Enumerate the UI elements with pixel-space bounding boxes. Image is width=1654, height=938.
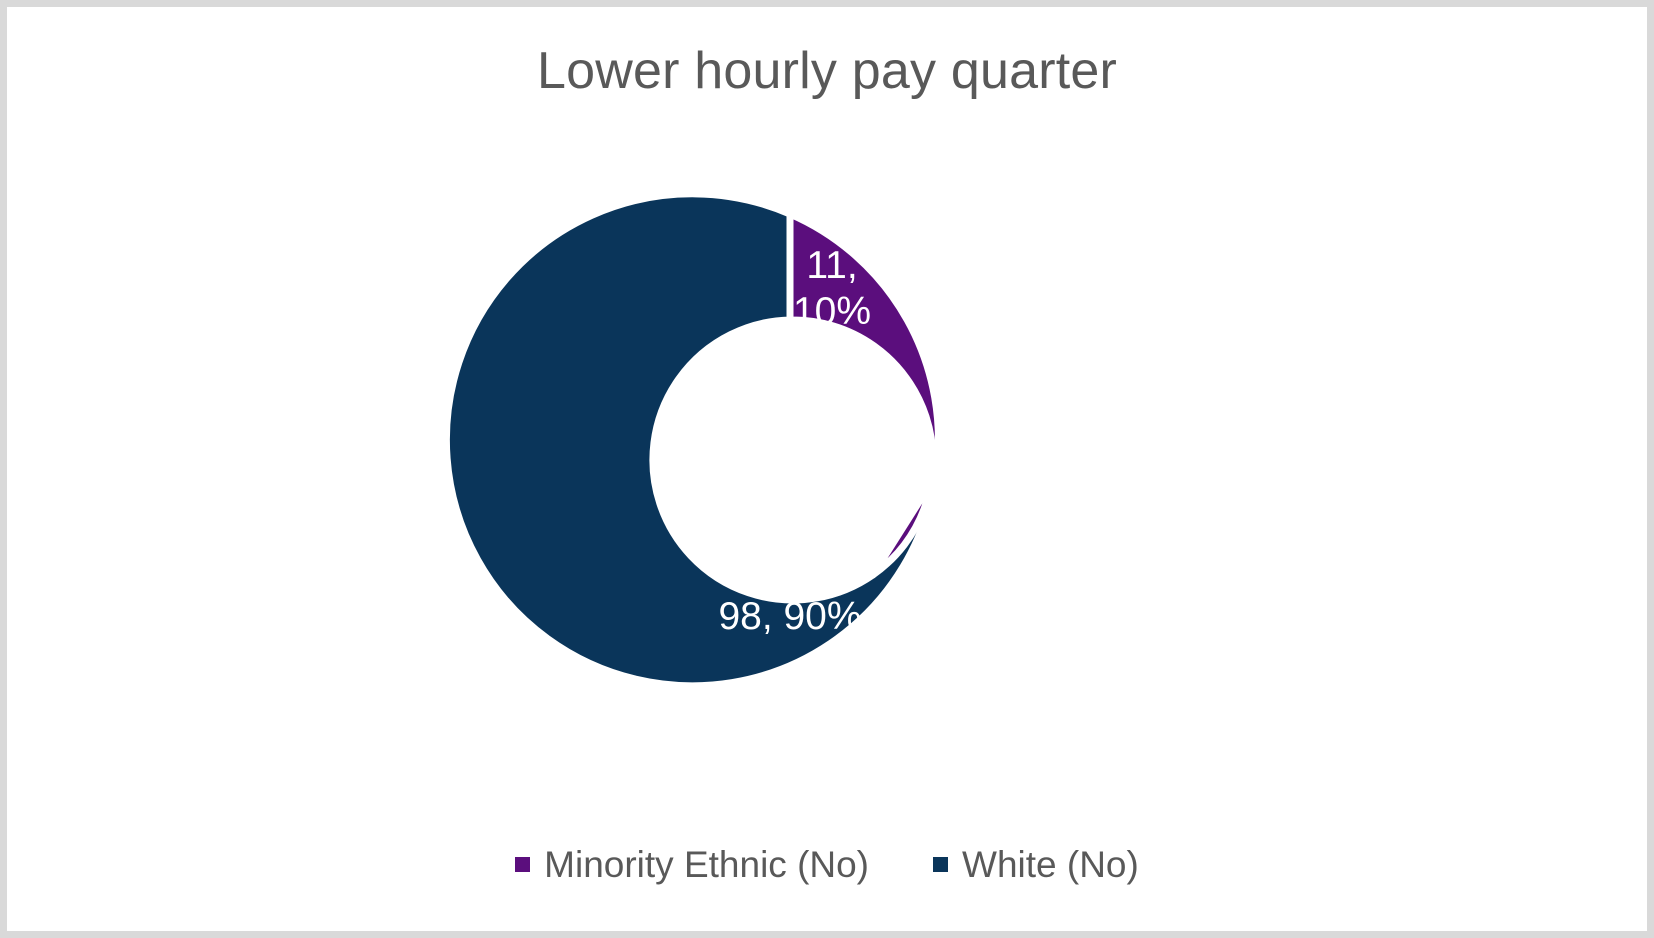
plot-area: 11, 10% 98, 90% [7, 157, 1654, 777]
chart-legend: Minority Ethnic (No) White (No) [7, 846, 1647, 883]
legend-item-minority-ethnic[interactable]: Minority Ethnic (No) [515, 846, 869, 883]
legend-item-white[interactable]: White (No) [933, 846, 1139, 883]
doughnut-chart [7, 157, 1654, 777]
chart-title: Lower hourly pay quarter [7, 43, 1647, 100]
legend-swatch-white-icon [933, 857, 948, 872]
pie-slice-minority-ethnic[interactable] [790, 214, 938, 575]
legend-swatch-minority-ethnic-icon [515, 857, 530, 872]
chart-frame: Lower hourly pay quarter 11, 10% 98, 90%… [0, 0, 1654, 938]
legend-label-white: White (No) [962, 846, 1139, 883]
legend-label-minority-ethnic: Minority Ethnic (No) [544, 846, 869, 883]
